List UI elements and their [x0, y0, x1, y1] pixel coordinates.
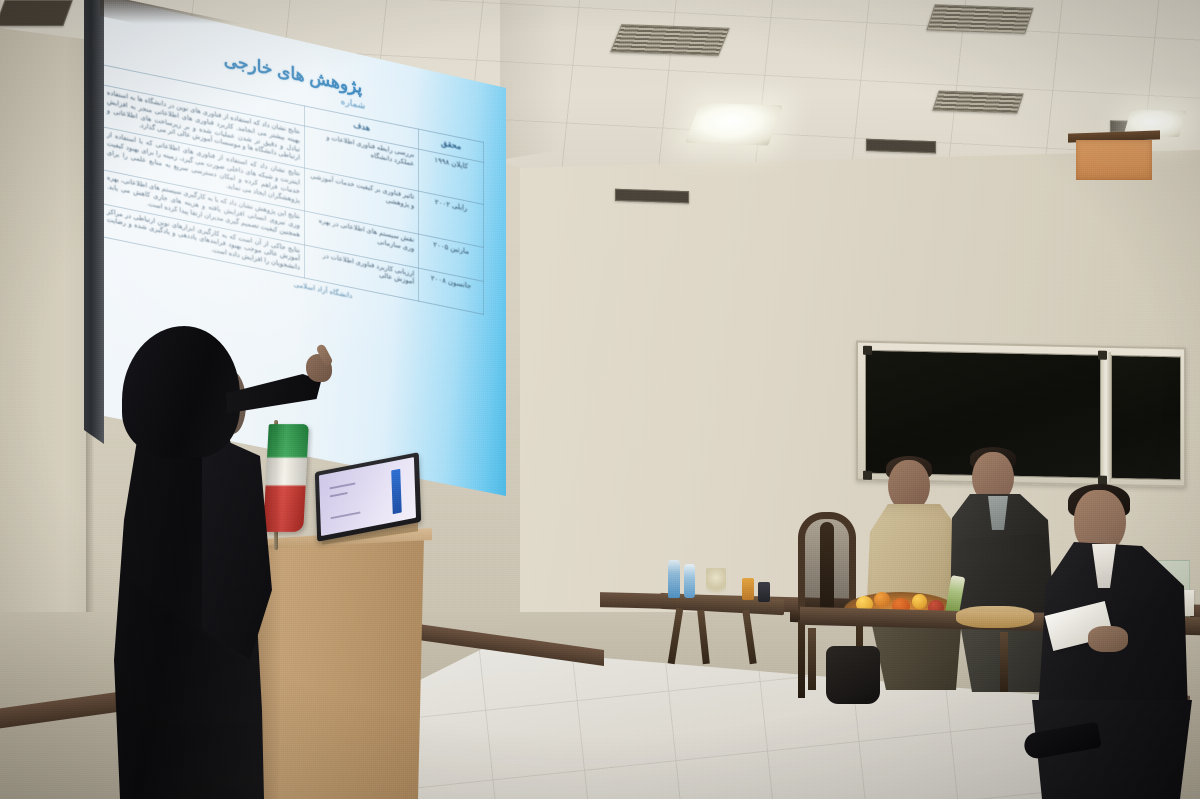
committee-member-3	[1030, 490, 1200, 799]
snack-plate	[956, 606, 1034, 628]
laptop-text-line	[330, 492, 348, 497]
ceiling-vent-icon	[926, 4, 1033, 33]
flower-vase-icon	[706, 568, 726, 600]
water-bottle-icon	[684, 564, 695, 598]
ceiling-vent-icon	[0, 0, 73, 26]
ceiling-light-icon	[685, 103, 782, 146]
ceiling-vent-icon	[932, 90, 1024, 113]
juice-can-icon	[742, 578, 754, 600]
presenter-person	[84, 318, 314, 799]
board-clip-icon	[1098, 351, 1107, 360]
laptop-text-line	[330, 511, 360, 519]
presenter-headscarf	[122, 326, 240, 458]
dark-can-icon	[758, 582, 770, 602]
member-head	[888, 460, 930, 510]
water-bottle-icon	[668, 560, 680, 598]
air-duct-icon	[615, 189, 689, 204]
board-clip-icon	[863, 346, 872, 355]
fruit-icon	[874, 592, 890, 607]
fruit-icon	[912, 594, 927, 609]
presenter-chador-drape	[202, 430, 272, 660]
member-hands	[1088, 626, 1128, 652]
bag-icon	[826, 646, 880, 704]
seminar-room-photo: پژوهش های خارجی شماره محقق هدف کاپلان ۱۹…	[0, 0, 1200, 799]
wood-wall-panel	[1076, 140, 1152, 180]
laptop-text-line	[329, 482, 355, 489]
laptop-sidebar	[391, 469, 402, 514]
blackboard-panel-right[interactable]	[1111, 355, 1181, 480]
blackboard-divider	[1101, 352, 1111, 482]
laptop-screen	[319, 457, 416, 536]
chair-back-slat	[820, 522, 834, 608]
air-duct-icon	[866, 139, 936, 153]
table-leg	[1000, 632, 1008, 692]
table-leg	[808, 628, 816, 690]
chair-leg	[798, 620, 805, 698]
ceiling-vent-icon	[610, 24, 730, 56]
